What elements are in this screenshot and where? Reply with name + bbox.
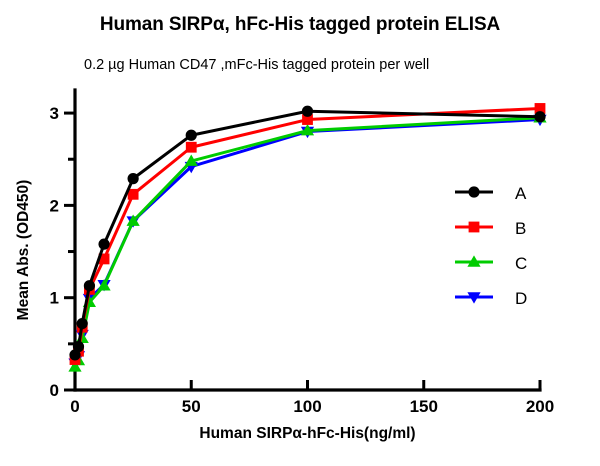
y-axis-tick-label: 2: [50, 196, 59, 215]
chart-page: Human SIRPα, hFc-His tagged protein ELIS…: [0, 0, 600, 466]
legend-label-A: A: [515, 184, 527, 203]
data-point-marker: [468, 186, 479, 197]
x-axis-title: Human SIRPα-hFc-His(ng/ml): [199, 425, 415, 442]
x-axis-tick-label: 200: [526, 397, 554, 416]
data-point-marker: [534, 111, 545, 122]
data-point-marker: [469, 222, 480, 233]
data-point-marker: [77, 318, 88, 329]
legend-label-D: D: [515, 289, 527, 308]
axes: 0123050100150200: [50, 90, 555, 416]
x-axis-tick-label: 0: [70, 397, 79, 416]
series-B: [70, 103, 546, 365]
legend-label-C: C: [515, 254, 527, 273]
legend-item-B[interactable]: B: [455, 219, 526, 238]
data-point-marker: [186, 142, 197, 153]
series-C: [68, 111, 546, 372]
elisa-line-chart: 0123050100150200 ABCD Human SIRPα-hFc-Hi…: [0, 0, 600, 466]
x-axis-tick-label: 150: [410, 397, 438, 416]
y-axis-tick-label: 0: [50, 381, 59, 400]
y-axis-tick-label: 1: [50, 289, 59, 308]
series-D: [68, 115, 546, 370]
series-line-B: [75, 108, 540, 359]
y-axis-tick-label: 3: [50, 104, 59, 123]
data-point-marker: [186, 130, 197, 141]
legend-item-C[interactable]: C: [455, 254, 527, 273]
y-axis-title: Mean Abs. (OD450): [15, 180, 32, 321]
legend-item-A[interactable]: A: [455, 184, 527, 203]
data-point-marker: [128, 173, 139, 184]
data-series: [68, 103, 546, 372]
x-axis-tick-label: 100: [293, 397, 321, 416]
x-axis-tick-label: 50: [182, 397, 201, 416]
series-line-D: [75, 120, 540, 364]
legend-item-D[interactable]: D: [455, 289, 527, 308]
series-A: [69, 106, 545, 361]
data-point-marker: [84, 280, 95, 291]
legend-label-B: B: [515, 219, 526, 238]
chart-legend: ABCD: [455, 184, 527, 308]
data-point-marker: [302, 106, 313, 117]
data-point-marker: [98, 239, 109, 250]
data-point-marker: [73, 341, 84, 352]
series-line-C: [75, 118, 540, 367]
series-line-A: [75, 111, 540, 355]
